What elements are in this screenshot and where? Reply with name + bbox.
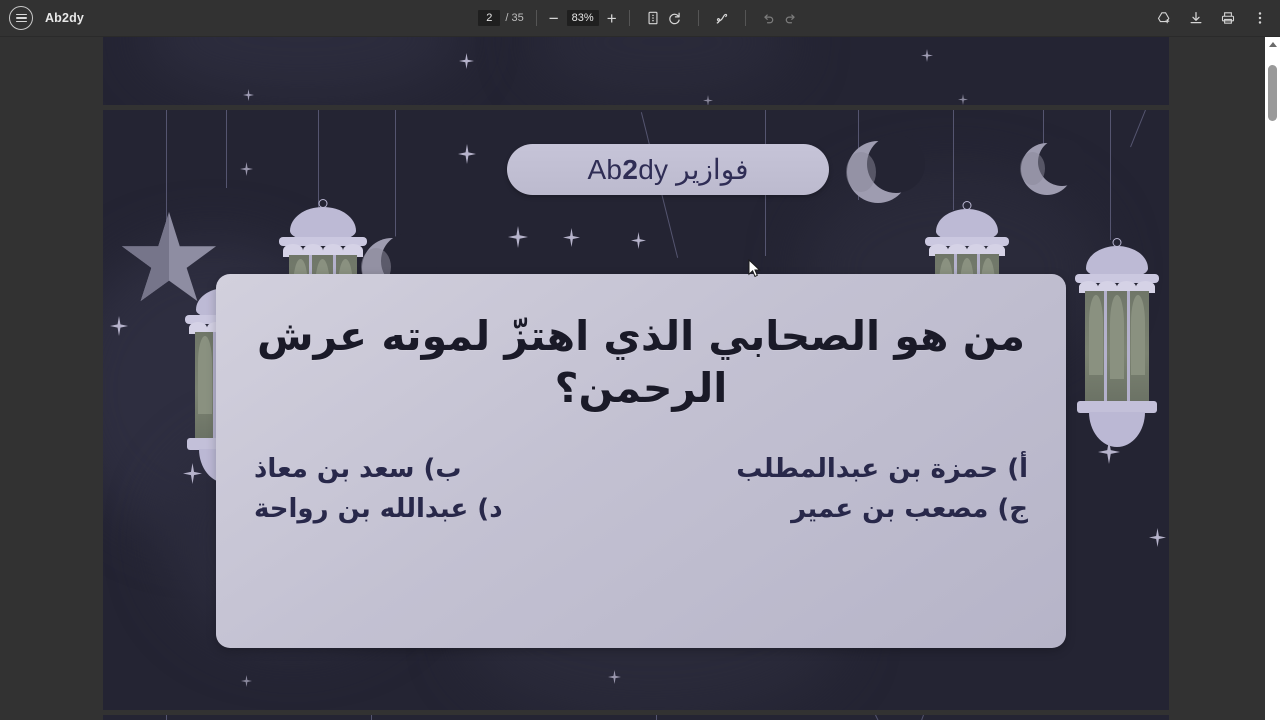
sparkle-icon	[459, 53, 474, 69]
hanging-string	[656, 715, 657, 720]
sparkle-icon	[921, 49, 933, 62]
zoom-level-value[interactable]: 83%	[567, 10, 599, 26]
sparkle-icon	[508, 226, 528, 248]
download-icon[interactable]	[1185, 7, 1207, 29]
option-d[interactable]: د) عبدالله بن رواحة	[254, 489, 503, 529]
hanging-string	[1110, 110, 1111, 240]
pdf-viewer-area[interactable]: فوازير Ab2dy من هو الصحابي الذي اهتزّ لم…	[0, 37, 1280, 720]
moon-cutout	[867, 135, 925, 193]
toolbar-divider	[745, 10, 746, 26]
lantern-icon	[1075, 238, 1159, 470]
options-row-2: ج) مصعب بن عمير د) عبدالله بن رواحة	[254, 489, 1028, 529]
moon-shading	[846, 152, 876, 192]
toolbar-divider	[698, 10, 699, 26]
lantern-bowl	[1089, 412, 1145, 447]
sparkle-icon	[1149, 528, 1166, 547]
hanging-string	[1130, 110, 1146, 147]
answer-options: أ) حمزة بن عبدالمطلب ب) سعد بن معاذ ج) م…	[246, 449, 1036, 530]
page-navigation: / 35	[478, 10, 523, 26]
lantern-rib	[1104, 291, 1107, 405]
next-page-sliver	[103, 715, 1169, 720]
redo-icon[interactable]	[780, 7, 802, 29]
options-row-1: أ) حمزة بن عبدالمطلب ب) سعد بن معاذ	[254, 449, 1028, 489]
hamburger-bars	[16, 14, 27, 23]
annotate-pen-icon[interactable]	[711, 7, 733, 29]
sparkle-icon	[241, 675, 252, 687]
hanging-string	[395, 110, 396, 238]
toolbar-divider	[536, 10, 537, 26]
save-to-drive-icon[interactable]	[1153, 7, 1175, 29]
lantern-dome	[290, 207, 356, 241]
cloud-decor	[533, 37, 793, 97]
page-number-input[interactable]	[478, 10, 500, 26]
question-text: من هو الصحابي الذي اهتزّ لموته عرش الرحم…	[246, 300, 1036, 415]
pdf-page-2: فوازير Ab2dy من هو الصحابي الذي اهتزّ لم…	[103, 110, 1169, 710]
previous-page-sliver	[103, 37, 1169, 105]
crescent-moon-icon	[847, 141, 909, 203]
sparkle-icon	[703, 95, 713, 105]
lantern-pane	[1089, 295, 1103, 375]
page-total-label: / 35	[505, 12, 523, 24]
sparkle-icon	[958, 94, 968, 105]
zoom-out-button[interactable]: −	[549, 10, 559, 27]
print-icon[interactable]	[1217, 7, 1239, 29]
scroll-up-arrow-icon[interactable]	[1265, 37, 1280, 52]
rotate-icon[interactable]	[664, 7, 686, 29]
undo-icon[interactable]	[758, 7, 780, 29]
zoom-controls: − 83% +	[549, 10, 617, 27]
document-title: Ab2dy	[45, 11, 84, 25]
hanging-string	[318, 110, 319, 208]
hanging-string	[953, 110, 954, 210]
hanging-string	[909, 715, 924, 720]
toolbar-divider	[629, 10, 630, 26]
sparkle-icon	[458, 144, 476, 164]
lantern-pane	[1131, 295, 1145, 375]
hanging-string	[875, 715, 893, 720]
toolbar-right-group	[1153, 7, 1280, 29]
crescent-moon-icon	[1021, 143, 1073, 195]
option-a[interactable]: أ) حمزة بن عبدالمطلب	[736, 449, 1028, 489]
slide-title-pill: فوازير Ab2dy	[507, 144, 829, 195]
lantern-pane	[1110, 295, 1124, 379]
moon-cutout	[1038, 138, 1086, 186]
sparkle-icon	[563, 228, 580, 247]
slide-title-text: فوازير Ab2dy	[587, 153, 748, 186]
lantern-glass-body	[1085, 291, 1149, 405]
question-card: من هو الصحابي الذي اهتزّ لموته عرش الرحم…	[216, 274, 1066, 648]
lantern-rib	[1127, 291, 1130, 405]
fit-page-icon[interactable]	[642, 7, 664, 29]
sparkle-icon	[631, 232, 646, 249]
pages-column: فوازير Ab2dy من هو الصحابي الذي اهتزّ لم…	[103, 37, 1169, 720]
hanging-string	[226, 110, 227, 188]
hanging-string	[166, 110, 167, 228]
option-b[interactable]: ب) سعد بن معاذ	[254, 449, 461, 489]
cloud-decor	[143, 37, 463, 97]
zoom-in-button[interactable]: +	[607, 10, 617, 27]
sparkle-icon	[240, 162, 253, 176]
hanging-string	[371, 715, 372, 720]
more-options-icon[interactable]	[1249, 7, 1271, 29]
vertical-scrollbar[interactable]	[1265, 37, 1280, 720]
hamburger-menu-icon[interactable]	[9, 6, 33, 30]
option-c[interactable]: ج) مصعب بن عمير	[791, 489, 1028, 529]
lantern-pane	[198, 336, 212, 414]
pdf-viewer-toolbar: Ab2dy / 35 − 83% +	[0, 0, 1280, 37]
hanging-string	[166, 715, 167, 720]
toolbar-left-group: Ab2dy	[0, 6, 300, 30]
moon-shading	[1020, 152, 1045, 185]
scrollbar-thumb[interactable]	[1268, 65, 1277, 121]
